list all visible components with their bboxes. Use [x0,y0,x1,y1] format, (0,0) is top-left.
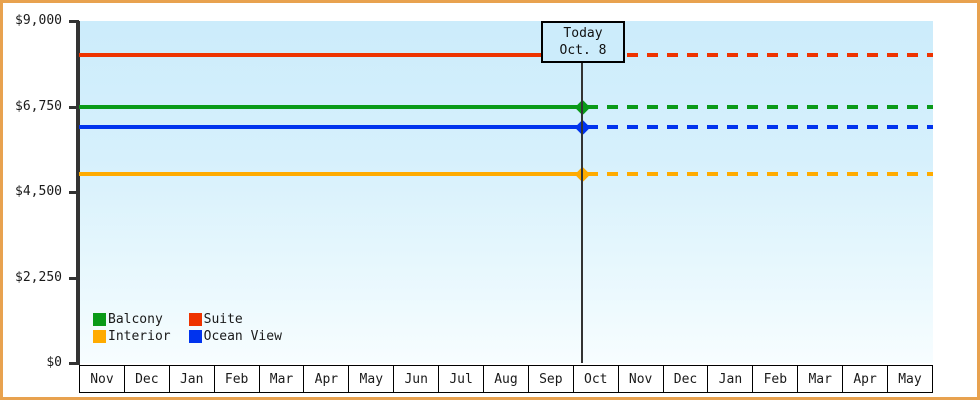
x-axis-month-cell[interactable]: Feb [214,365,259,393]
y-tick-label: $4,500 [15,185,62,198]
y-tick [69,277,79,280]
x-axis-month-cell[interactable]: Oct [573,365,618,393]
x-axis-month-cell[interactable]: Jun [393,365,438,393]
today-label: Today [563,25,602,42]
legend-swatch-icon [93,330,106,343]
x-axis-month-cell[interactable]: Feb [752,365,797,393]
today-vertical-line [581,63,583,363]
today-date: Oct. 8 [560,42,607,59]
x-axis-month-cell[interactable]: Dec [124,365,169,393]
legend-item-label: Ocean View [204,330,282,343]
legend-item-label: Suite [204,313,243,326]
x-axis-month-cell[interactable]: Dec [663,365,708,393]
y-tick [69,20,79,23]
series-line-solid [79,125,583,129]
legend-item[interactable]: Ocean View [189,330,282,343]
legend-item[interactable]: Suite [189,313,282,326]
y-tick-label: $0 [46,356,62,369]
x-axis-month-cell[interactable]: Mar [259,365,304,393]
x-axis-month-cell[interactable]: Jan [169,365,214,393]
x-axis-month-cell[interactable]: Jan [707,365,752,393]
x-axis-month-cell[interactable]: Apr [842,365,887,393]
series-line-solid [79,172,583,176]
series-line-dashed [587,172,933,176]
series-line-solid [79,105,583,109]
legend-swatch-icon [93,313,106,326]
y-tick-label: $6,750 [15,100,62,113]
legend-item-label: Interior [108,330,171,343]
y-tick-label: $9,000 [15,14,62,27]
series-line-solid [79,53,583,57]
y-tick [69,362,79,365]
x-axis-month-cell[interactable]: Nov [79,365,124,393]
x-axis-month-labels: NovDecJanFebMarAprMayJunJulAugSepOctNovD… [79,365,933,393]
x-axis-month-cell[interactable]: Jul [438,365,483,393]
y-tick [69,106,79,109]
x-axis-month-cell[interactable]: Aug [483,365,528,393]
legend-item[interactable]: Interior [93,330,171,343]
legend-item-label: Balcony [108,313,163,326]
y-tick [69,191,79,194]
chart-legend: BalconySuiteInteriorOcean View [93,313,282,343]
today-callout-box: Today Oct. 8 [541,21,625,63]
series-line-dashed [587,125,933,129]
legend-item[interactable]: Balcony [93,313,171,326]
x-axis-month-cell[interactable]: May [348,365,393,393]
x-axis-month-cell[interactable]: Apr [303,365,348,393]
y-tick-label: $2,250 [15,271,62,284]
x-axis-month-cell[interactable]: Mar [797,365,842,393]
legend-swatch-icon [189,313,202,326]
x-axis-month-cell[interactable]: May [887,365,933,393]
series-line-dashed [587,105,933,109]
series-line-dashed [587,53,933,57]
chart-frame: $9,000$6,750$4,500$2,250$0 Today Oct. 8 … [0,0,980,400]
x-axis-month-cell[interactable]: Sep [528,365,573,393]
legend-swatch-icon [189,330,202,343]
x-axis-month-cell[interactable]: Nov [618,365,663,393]
